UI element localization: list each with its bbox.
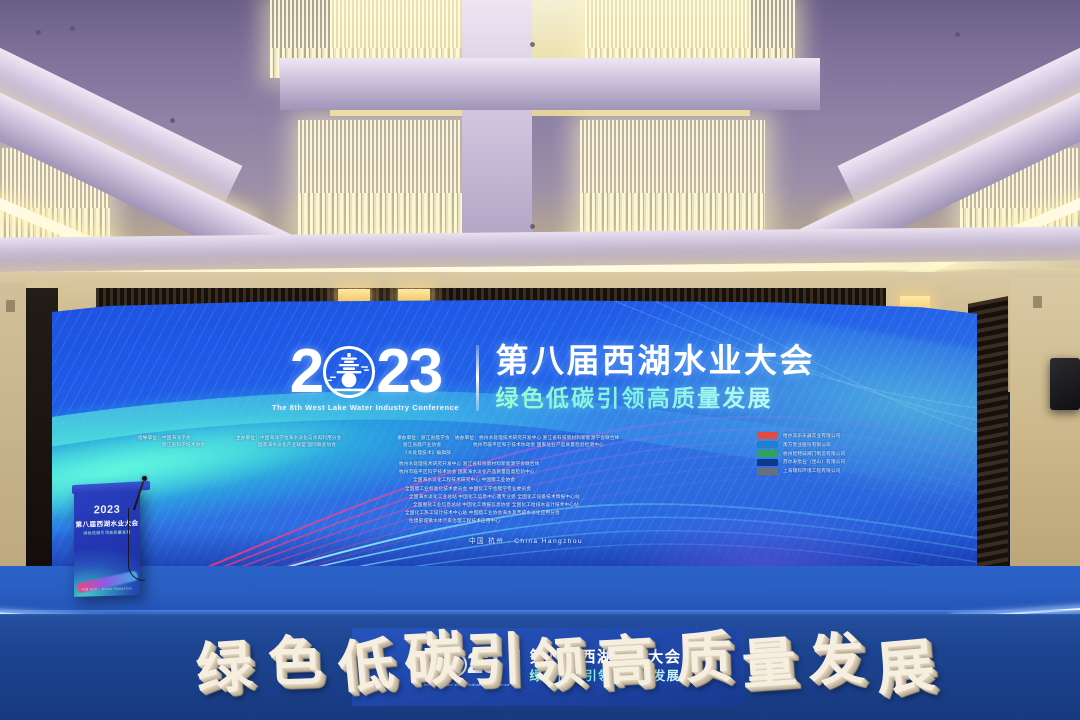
credits-organizer-line3: 《水处理技术》编辑部 bbox=[397, 449, 451, 456]
sponsor-logo-icon bbox=[757, 459, 778, 466]
sponsor-row: 苏尔寿泵业（昆山）有限公司 bbox=[757, 458, 845, 465]
loudspeaker bbox=[1050, 358, 1080, 410]
microphone-head-icon bbox=[142, 476, 147, 481]
sponsor-logo-icon bbox=[757, 468, 778, 475]
credits-guiding-line2: 浙江省科学技术协会 bbox=[138, 441, 205, 448]
side-wall-left bbox=[0, 282, 26, 582]
sponsor-row: 杭州智特威阀门制造有限公司 bbox=[757, 450, 845, 457]
credits-partner-line: 住建部城镇水体污染治理工程技术应用中心 bbox=[399, 517, 580, 525]
chandelier-mid-left bbox=[298, 120, 483, 238]
stage-edge-highlight bbox=[0, 610, 1080, 616]
credits-sponsors: 哈尔滨乐乐器实业有限公司南方泵业股份有限公司杭州智特威阀门制造有限公司苏尔寿泵业… bbox=[757, 432, 845, 476]
led-title-lockup: 2 bbox=[272, 342, 815, 414]
credits-coorganizer-line1: 杭州水处理技术研究开发中心 浙江省科技新材料新能源学会联合体 bbox=[479, 435, 620, 440]
foam-character: 展 bbox=[874, 636, 937, 699]
credits-guiding-lead: 指导单位： bbox=[138, 435, 162, 440]
credits-partner-line: 全国膜工业标准化技术委员会 中国化工学会膜学专业委员会 bbox=[399, 485, 580, 493]
conference-stage-photo: 2 bbox=[0, 0, 1080, 720]
exit-sign-left bbox=[6, 300, 15, 312]
sponsor-logo-icon bbox=[757, 432, 778, 439]
credits-organizer-lead: 承办单位： bbox=[397, 435, 421, 440]
conference-title-cn: 第八届西湖水业大会 bbox=[496, 342, 816, 381]
year-digits-23: 23 bbox=[376, 343, 441, 400]
credits-coorganizer: 协办单位：杭州水处理技术研究开发中心 浙江省科技新材料新能源学会联合体 杭州市临… bbox=[455, 434, 619, 449]
credits-organizer: 承办单位：浙江省膜学会 浙江省膜产业协会 《水处理技术》编辑部 bbox=[397, 434, 451, 456]
foam-character: 发 bbox=[807, 631, 866, 690]
credits-host-line2: 国家海水淡化产业联盟 国际脱盐协会 bbox=[236, 441, 341, 448]
credits-coorganizer-line2: 杭州市临平区和宁技术协动会 国家盐业产品质量检验检测中心 bbox=[455, 441, 619, 448]
credits-partner-list: 杭州水处理技术研究开发中心 浙江省科协新材料新能源学会联合体杭州市临平区科学技术… bbox=[399, 460, 580, 525]
sponsor-logo-icon bbox=[757, 450, 778, 457]
sponsor-name: 苏尔寿泵业（昆山）有限公司 bbox=[783, 458, 845, 465]
foam-character: 引 bbox=[465, 631, 523, 689]
wall-light-left bbox=[338, 289, 370, 303]
conference-subtitle-cn: 绿色低碳引领高质量发展 bbox=[496, 384, 816, 414]
lockup-divider bbox=[476, 345, 479, 411]
sponsor-name: 上海瑞科环境工程有限公司 bbox=[783, 467, 841, 474]
credits-partner-line: 杭州市临平区科学技术协会 国家海水淡化产品质量监督检验中心 bbox=[399, 468, 580, 476]
credits-host-line1: 中国海洋学会海水淡化与水再利用分会 bbox=[260, 435, 342, 440]
credits-organizer-line1: 浙江省膜学会 bbox=[421, 435, 450, 440]
foam-character: 碳 bbox=[403, 629, 464, 690]
ceiling bbox=[0, 0, 1080, 300]
credits-host-lead: 主办单位： bbox=[236, 435, 260, 440]
foam-character: 量 bbox=[740, 634, 798, 692]
credits-partner-line: 全国脱盐工业信息总站 中国化工情报信息协会 全国化工给排水设计技术中心站 bbox=[399, 501, 580, 509]
west-lake-pagoda-icon bbox=[323, 346, 375, 398]
foam-character: 低 bbox=[336, 636, 397, 697]
sponsor-name: 哈尔滨乐乐器实业有限公司 bbox=[783, 432, 841, 439]
credits-guiding-line1: 中国海洋学会 bbox=[162, 435, 191, 440]
credits-partner-line: 全国海水淡化工程技术研究中心 中国膜工业协会 bbox=[399, 476, 580, 484]
year-digit-2: 2 bbox=[290, 343, 322, 400]
sponsor-name: 南方泵业股份有限公司 bbox=[783, 441, 831, 448]
sponsor-name: 杭州智特威阀门制造有限公司 bbox=[783, 450, 845, 457]
credits-host: 主办单位：中国海洋学会海水淡化与水再利用分会 国家海水淡化产业联盟 国际脱盐协会 bbox=[236, 434, 341, 449]
sponsor-row: 上海瑞科环境工程有限公司 bbox=[757, 467, 845, 474]
conference-english-subtitle: The 8th West Lake Water Industry Confere… bbox=[272, 403, 459, 412]
chandelier-mid-right bbox=[580, 120, 765, 238]
foam-character: 色 bbox=[267, 633, 323, 689]
credits-partner-line: 全国化工热工设计技术中心站 中国膜工业协会海水及苦咸水淡化应用分会 bbox=[399, 509, 580, 517]
side-wall-right bbox=[1010, 278, 1080, 598]
venue-label: 中国 杭州 · China Hangzhou bbox=[469, 535, 583, 545]
exit-sign-right bbox=[1033, 296, 1042, 308]
credits-coorganizer-lead: 协办单位： bbox=[455, 435, 479, 440]
sponsor-logo-icon bbox=[757, 441, 778, 448]
foam-character: 领 bbox=[528, 634, 586, 692]
foam-character: 绿 bbox=[194, 638, 254, 698]
credits-partner-line: 全国海水淡化工业总站 中国化工信息中心膜专业组 全国化工设备技术情报中心站 bbox=[399, 493, 580, 501]
year-logo: 2 bbox=[272, 343, 459, 412]
credits-organizer-line2: 浙江省膜产业协会 bbox=[397, 441, 451, 448]
microphone-cable bbox=[128, 508, 145, 581]
sponsor-row: 南方泵业股份有限公司 bbox=[757, 441, 845, 448]
credits-guiding: 指导单位：中国海洋学会 浙江省科学技术协会 bbox=[138, 434, 205, 449]
foam-character: 高 bbox=[597, 633, 656, 692]
credits-partner-line: 杭州水处理技术研究开发中心 浙江省科协新材料新能源学会联合体 bbox=[399, 460, 580, 468]
sponsor-row: 哈尔滨乐乐器实业有限公司 bbox=[757, 432, 845, 439]
foam-character: 质 bbox=[675, 629, 733, 687]
